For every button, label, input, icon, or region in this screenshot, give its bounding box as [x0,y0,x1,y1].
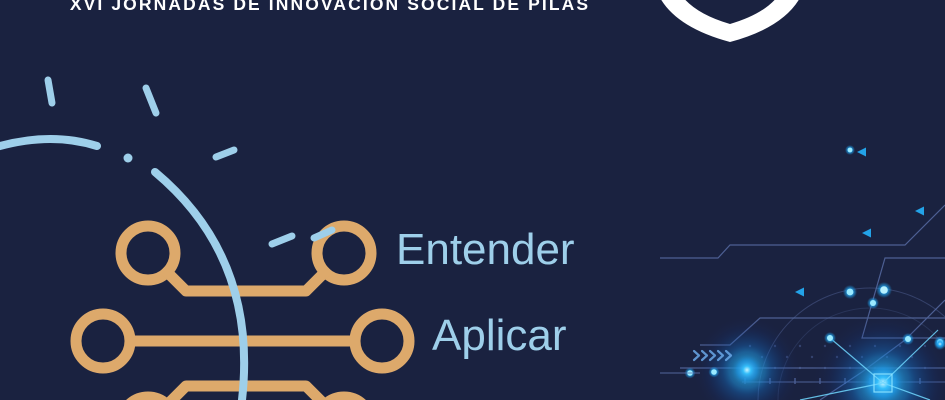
sparkle-dot [124,154,133,163]
page-title: XVI JORNADAS DE INNOVACIÓN SOCIAL DE PIL… [0,0,660,15]
keyword-aplicar: Aplicar [432,314,567,358]
poster-canvas: XVI JORNADAS DE INNOVACIÓN SOCIAL DE PIL… [0,0,945,400]
keyword-entender: Entender [396,228,575,272]
glow-core-left [729,352,765,388]
